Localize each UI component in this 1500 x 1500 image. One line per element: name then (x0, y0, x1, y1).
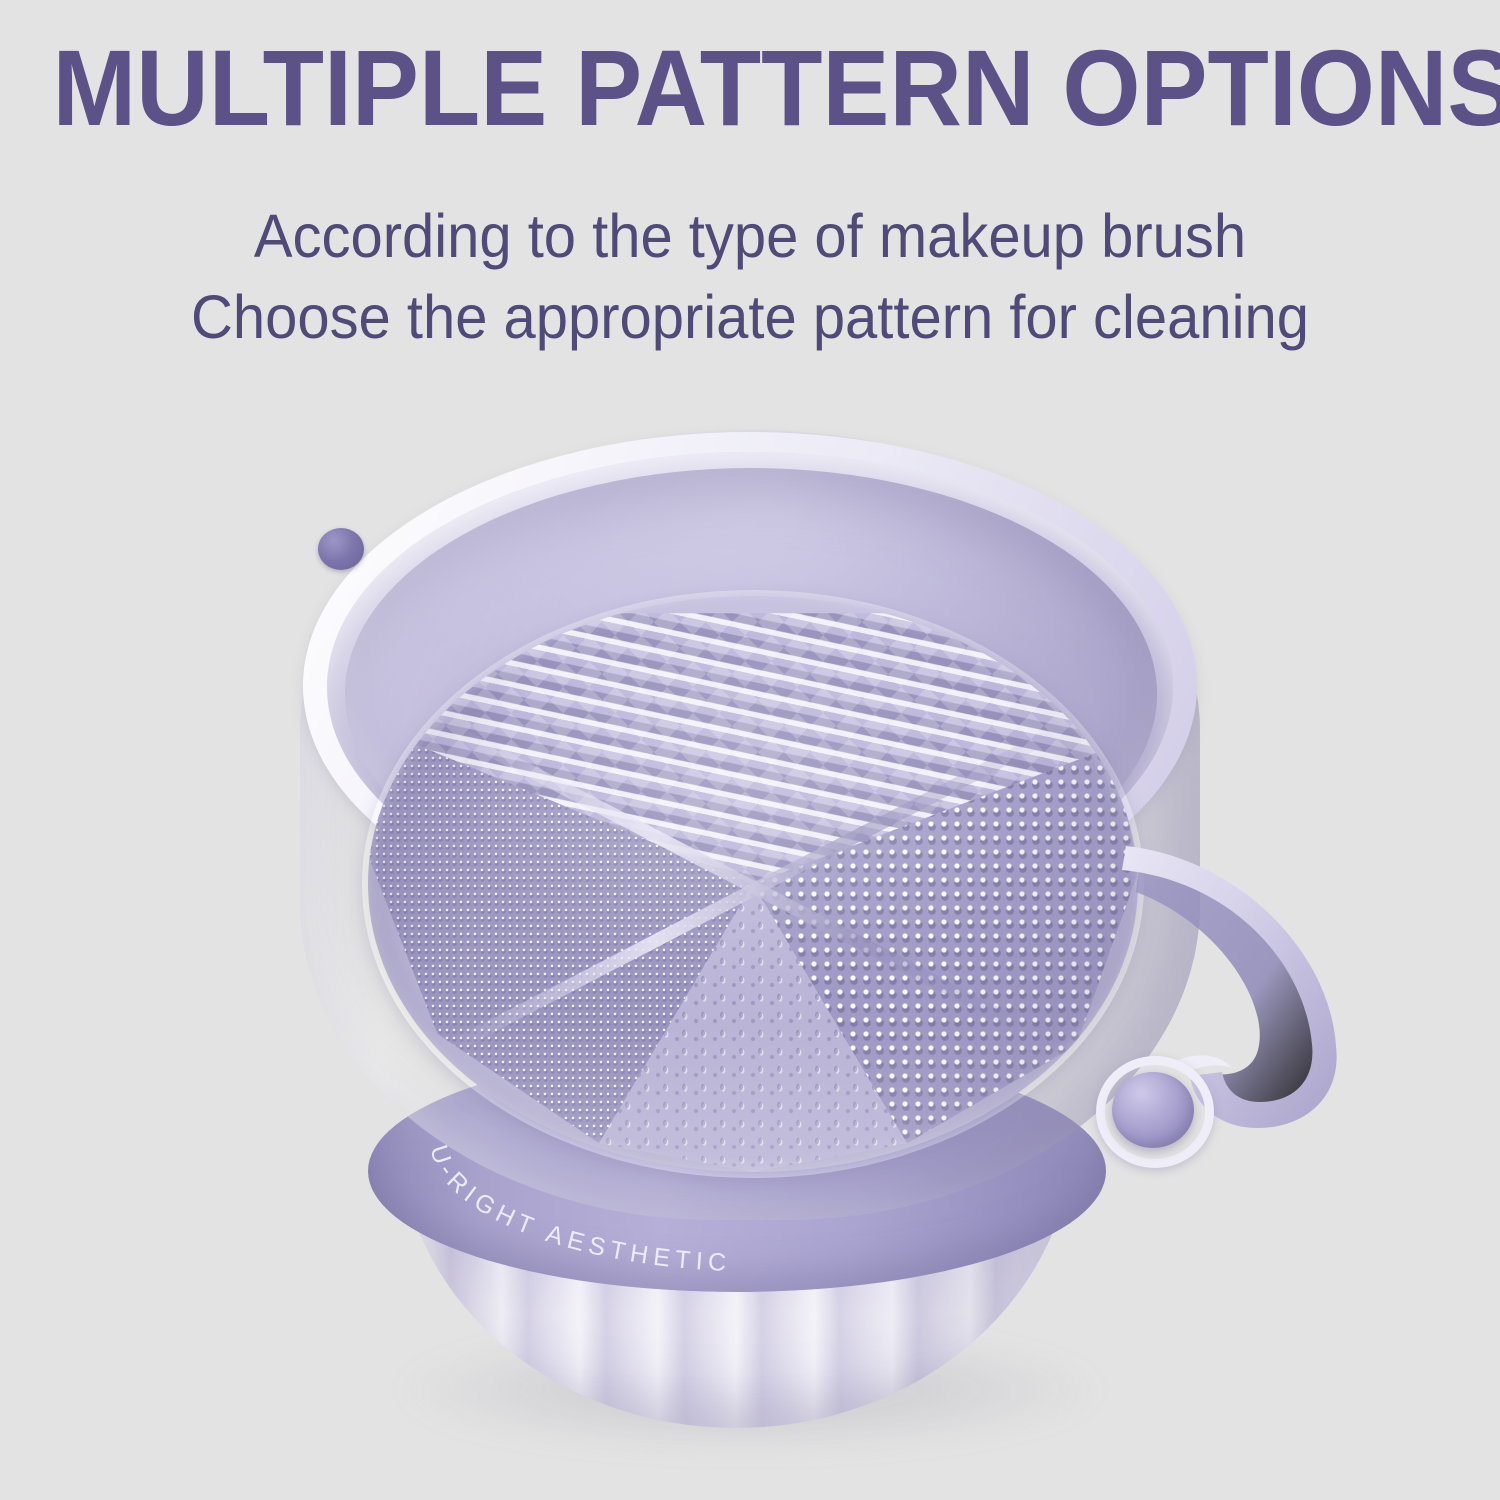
side-knob (318, 528, 364, 570)
handle-pivot-knob (1112, 1072, 1194, 1148)
promo-image-canvas: MULTIPLE PATTERN OPTIONS According to th… (0, 0, 1500, 1500)
product-illustration: U-RIGHT AESTHETIC (0, 0, 1500, 1500)
cleaning-mat-rim-light (362, 590, 1144, 1178)
